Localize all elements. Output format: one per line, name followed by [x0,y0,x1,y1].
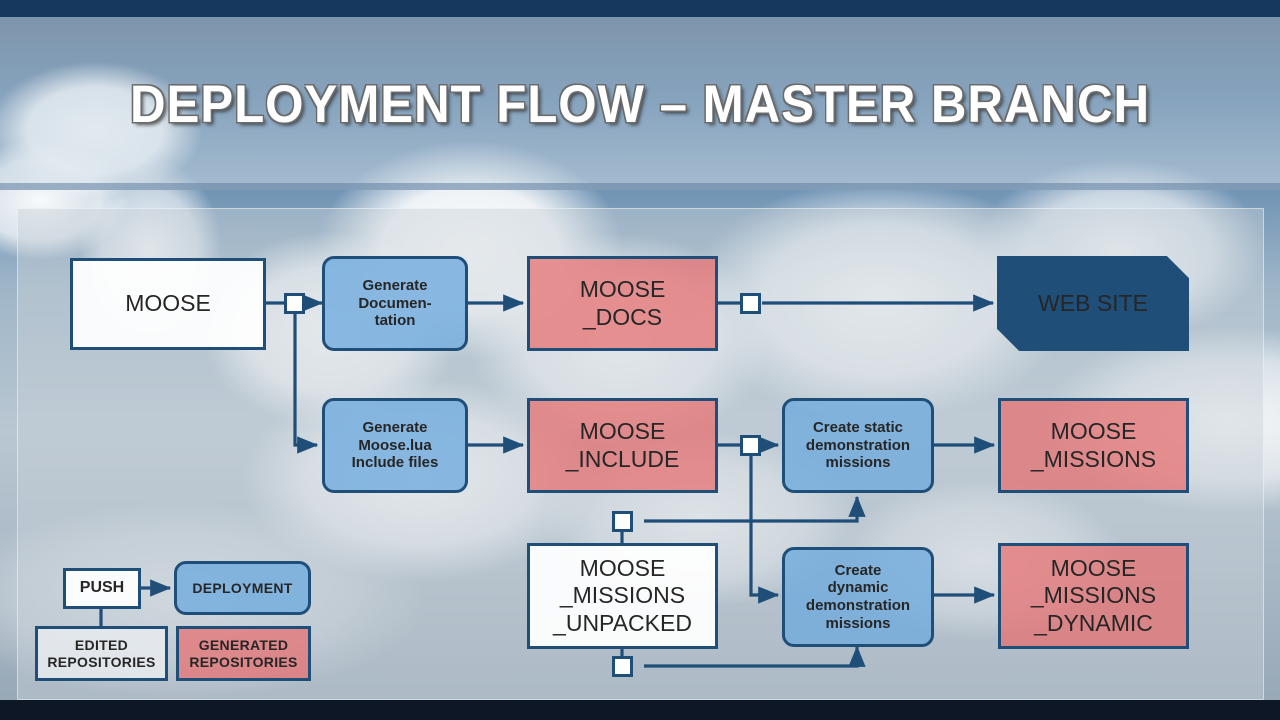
legend-edited-line1: EDITED [47,637,155,654]
node-create-static-line1: Create static [806,419,910,437]
node-moose-missions-line2: _MISSIONS [1031,446,1156,473]
node-generate-include-line2: Moose.lua [352,437,439,455]
legend-generated-line2: REPOSITORIES [189,654,297,671]
node-generate-documentation-line2: Documen- [358,295,431,313]
node-create-dynamic-line1: Create [806,562,910,580]
legend-edited-line2: REPOSITORIES [47,654,155,671]
node-moose-missions-line1: MOOSE [1031,418,1156,445]
node-missions-unpacked[interactable]: MOOSE _MISSIONS _UNPACKED [527,543,718,649]
node-moose-include-line2: _INCLUDE [566,446,680,473]
legend-generated-line1: GENERATED [189,637,297,654]
node-missions-dynamic-line3: _DYNAMIC [1031,610,1156,637]
junction-node-moose[interactable] [284,293,305,314]
node-generate-include-line1: Generate [352,419,439,437]
node-web-site[interactable]: WEB SITE [997,256,1189,351]
node-missions-unpacked-line1: MOOSE [553,555,692,582]
junction-node-unpacked-top[interactable] [612,511,633,532]
node-moose-label: MOOSE [125,290,211,317]
node-generate-documentation-line3: tation [358,312,431,330]
node-create-static[interactable]: Create static demonstration missions [782,398,934,493]
node-create-static-line2: demonstration [806,437,910,455]
node-generate-documentation[interactable]: Generate Documen- tation [322,256,468,351]
node-create-static-line3: missions [806,454,910,472]
junction-node-unpacked-bottom[interactable] [612,656,633,677]
page-title: DEPLOYMENT FLOW – MASTER BRANCH [45,74,1235,135]
node-create-dynamic-line3: demonstration [806,597,910,615]
node-moose-missions[interactable]: MOOSE _MISSIONS [998,398,1189,493]
node-moose-docs[interactable]: MOOSE _DOCS [527,256,718,351]
node-missions-unpacked-line3: _UNPACKED [553,610,692,637]
legend-generated-repositories[interactable]: GENERATED REPOSITORIES [176,626,311,681]
junction-node-moose-include[interactable] [740,435,761,456]
node-missions-dynamic-line2: _MISSIONS [1031,582,1156,609]
node-create-dynamic-line4: missions [806,615,910,633]
top-accent-band [0,0,1280,17]
node-moose-include[interactable]: MOOSE _INCLUDE [527,398,718,493]
node-moose[interactable]: MOOSE [70,258,266,350]
node-generate-include[interactable]: Generate Moose.lua Include files [322,398,468,493]
node-create-dynamic-line2: dynamic [806,579,910,597]
header-divider-rule [0,183,1280,190]
legend-deployment[interactable]: DEPLOYMENT [174,561,311,615]
legend-push[interactable]: PUSH [63,568,141,609]
node-moose-include-line1: MOOSE [566,418,680,445]
node-generate-documentation-line1: Generate [358,277,431,295]
bottom-accent-band [0,700,1280,720]
slide-canvas: DEPLOYMENT FLOW – MASTER BRANCH [0,0,1280,720]
node-generate-include-line3: Include files [352,454,439,472]
junction-node-moose-docs[interactable] [740,293,761,314]
node-missions-unpacked-line2: _MISSIONS [553,582,692,609]
legend-edited-repositories[interactable]: EDITED REPOSITORIES [35,626,168,681]
legend-deployment-label: DEPLOYMENT [192,580,292,597]
node-missions-dynamic-line1: MOOSE [1031,555,1156,582]
node-moose-docs-line1: MOOSE [580,276,666,303]
node-web-site-label: WEB SITE [1038,290,1148,317]
legend-push-label: PUSH [80,579,124,598]
node-create-dynamic[interactable]: Create dynamic demonstration missions [782,547,934,647]
node-moose-docs-line2: _DOCS [580,304,666,331]
node-missions-dynamic[interactable]: MOOSE _MISSIONS _DYNAMIC [998,543,1189,649]
